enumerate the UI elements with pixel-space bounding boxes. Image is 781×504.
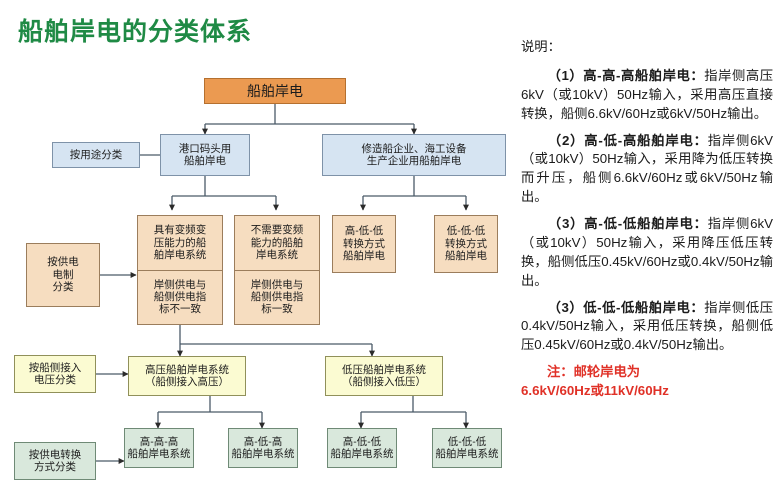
node-without-vfd-detail: 岸侧供电与 船侧供电指 标一致	[235, 270, 319, 325]
node-lll-system[interactable]: 低-低-低 船舶岸电系统	[432, 428, 502, 468]
panel-item-3-marker: （3）高-低-低船舶岸电：	[547, 216, 708, 231]
node-hhh-system[interactable]: 高-高-高 船舶岸电系统	[124, 428, 194, 468]
panel-item-2-marker: （2）高-低-高船舶岸电：	[547, 133, 708, 148]
node-with-vfd-detail: 岸侧供电与 船侧供电指 标不一致	[138, 270, 222, 325]
panel-note: 注：邮轮岸电为 6.6kV/60Hz或11kV/60Hz	[521, 363, 773, 401]
panel-lead: 说明：	[521, 38, 773, 57]
node-shipyard-offshore[interactable]: 修造船企业、海工设备 生产企业用船舶岸电	[322, 134, 506, 176]
node-root[interactable]: 船舶岸电	[204, 78, 346, 104]
node-low-voltage-system[interactable]: 低压船舶岸电系统 （船侧接入低压）	[325, 356, 443, 396]
node-without-vfd-title: 不需要变频 能力的船舶 岸电系统	[235, 216, 319, 270]
node-high-voltage-system[interactable]: 高压船舶岸电系统 （船侧接入高压）	[128, 356, 246, 396]
node-hll-system[interactable]: 高-低-低 船舶岸电系统	[327, 428, 397, 468]
node-port-terminal[interactable]: 港口码头用 船舶岸电	[160, 134, 250, 176]
panel-item-3: （3）高-低-低船舶岸电：指岸侧6kV（或10kV）50Hz输入，采用降压低压转…	[521, 215, 773, 291]
node-lo-lo-lo-mode[interactable]: 低-低-低 转换方式 船舶岸电	[434, 215, 498, 273]
panel-item-4-marker: （3）低-低-低船舶岸电：	[547, 300, 704, 315]
node-with-vfd-transformer[interactable]: 具有变频变 压能力的船 舶岸电系统 岸侧供电与 船侧供电指 标不一致	[137, 215, 223, 325]
panel-note-line1: 注：邮轮岸电为	[521, 363, 773, 382]
panel-item-2: （2）高-低-高船舶岸电：指岸侧6kV（或10kV）50Hz输入，采用降为低压转…	[521, 132, 773, 208]
panel-item-4: （3）低-低-低船舶岸电：指岸侧低压0.4kV/50Hz输入，采用低压转换，船侧…	[521, 299, 773, 356]
node-hlh-system[interactable]: 高-低-高 船舶岸电系统	[228, 428, 298, 468]
criterion-by-conversion-mode[interactable]: 按供电转换 方式分类	[14, 442, 96, 480]
node-without-vfd[interactable]: 不需要变频 能力的船舶 岸电系统 岸侧供电与 船侧供电指 标一致	[234, 215, 320, 325]
criterion-by-supply-system[interactable]: 按供电 电制 分类	[26, 243, 100, 307]
diagram-page: 船舶岸电的分类体系	[0, 0, 781, 504]
node-with-vfd-title: 具有变频变 压能力的船 舶岸电系统	[138, 216, 222, 270]
criterion-by-usage[interactable]: 按用途分类	[52, 142, 140, 168]
explanation-panel: 说明： （1）高-高-高船舶岸电：指岸侧高压6kV（或10kV）50Hz输入，采…	[521, 38, 773, 409]
panel-note-line2: 6.6kV/60Hz或11kV/60Hz	[521, 382, 773, 401]
criterion-by-ship-voltage[interactable]: 按船侧接入 电压分类	[14, 355, 96, 393]
panel-item-1: （1）高-高-高船舶岸电：指岸侧高压6kV（或10kV）50Hz输入，采用高压直…	[521, 67, 773, 124]
panel-item-1-marker: （1）高-高-高船舶岸电：	[547, 68, 704, 83]
node-hi-lo-lo-mode[interactable]: 高-低-低 转换方式 船舶岸电	[332, 215, 396, 273]
